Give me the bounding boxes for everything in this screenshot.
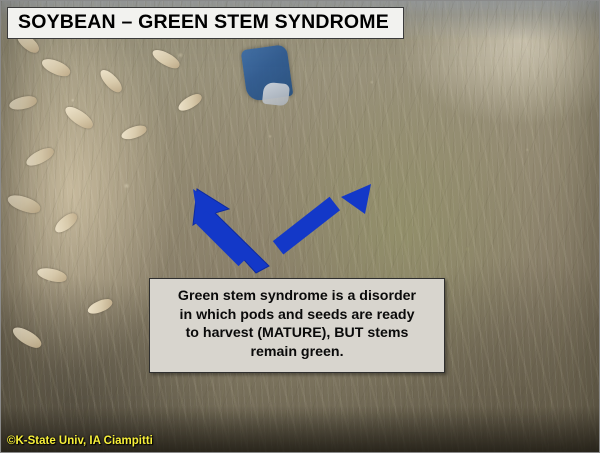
- caption-line-1: Green stem syndrome is a disorder: [160, 287, 434, 306]
- caption-line-2: in which pods and seeds are ready: [160, 306, 434, 325]
- photo-vignette: [1, 1, 599, 452]
- caption-line-3: to harvest (MATURE), BUT stems: [160, 324, 434, 343]
- page-title: SOYBEAN – GREEN STEM SYNDROME: [7, 7, 404, 39]
- copyright-credit: ©K-State Univ, IA Ciampitti: [7, 435, 153, 447]
- slide-canvas: SOYBEAN – GREEN STEM SYNDROME Green stem…: [0, 0, 600, 453]
- caption-line-4: remain green.: [160, 343, 434, 362]
- caption-box: Green stem syndrome is a disorder in whi…: [149, 278, 445, 373]
